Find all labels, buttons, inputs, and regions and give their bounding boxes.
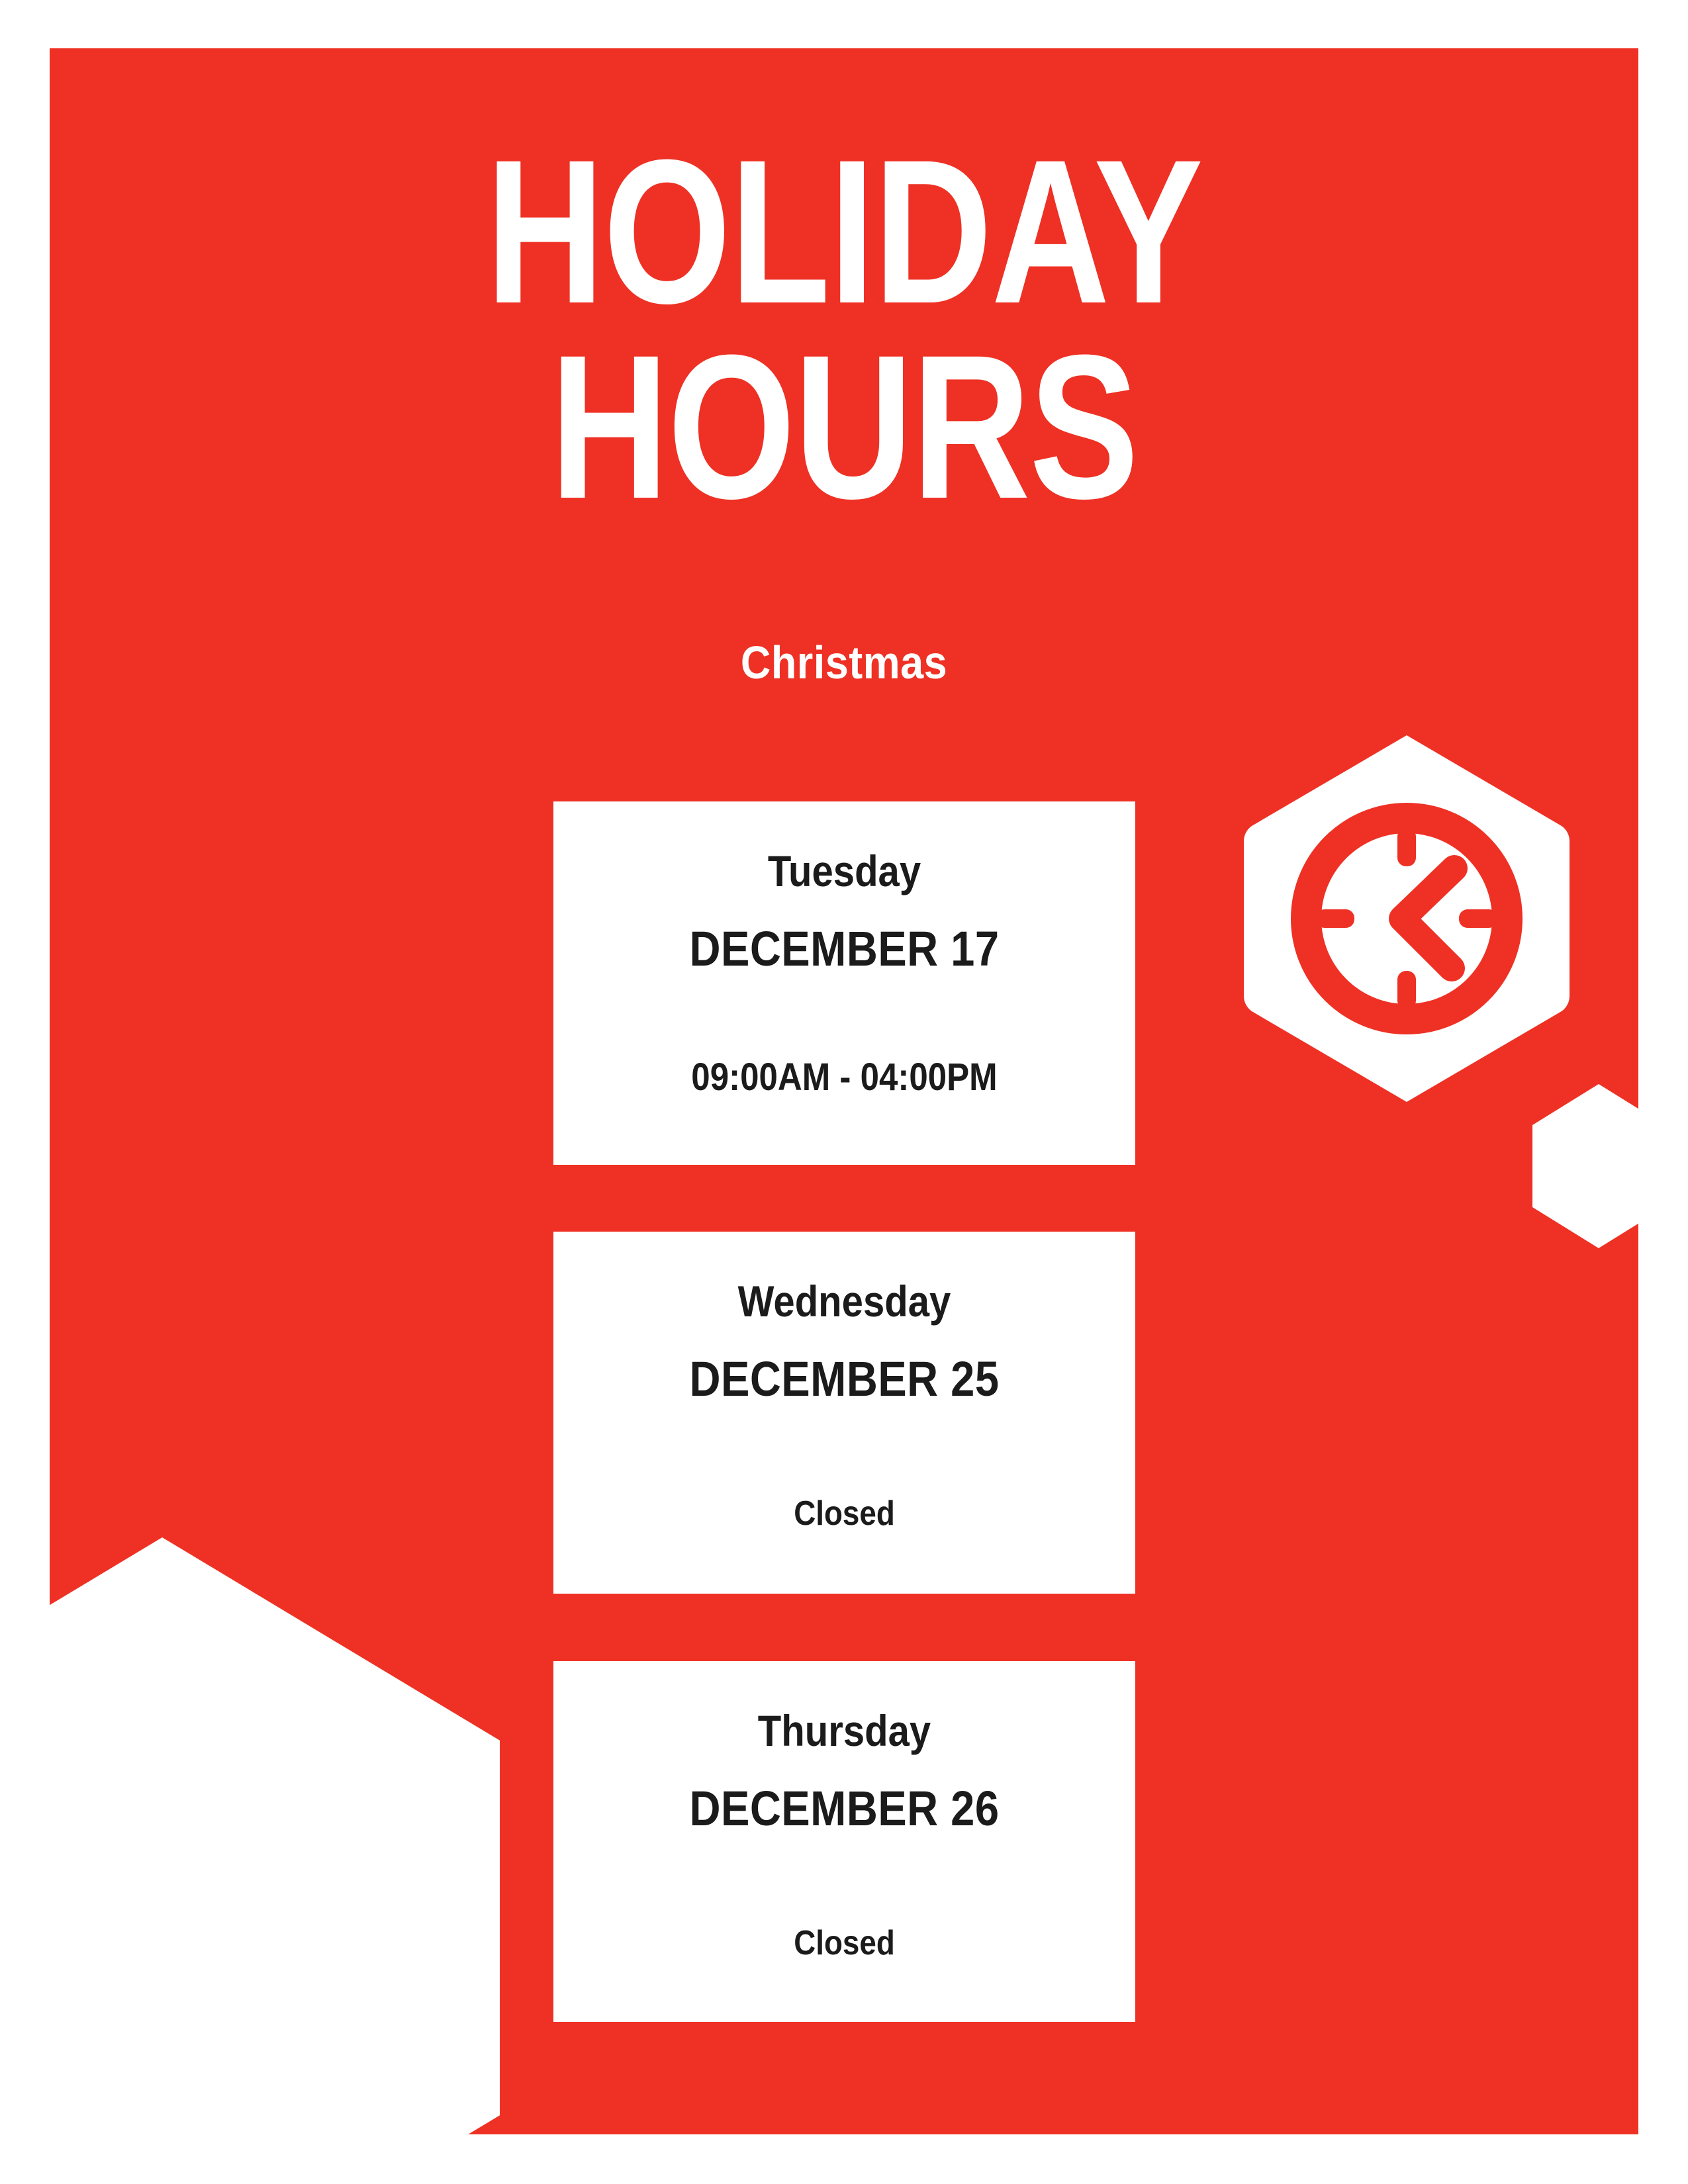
schedule-card: Tuesday DECEMBER 17 09:00AM - 04:00PM [553, 801, 1135, 1165]
schedule-date: DECEMBER 17 [602, 925, 1086, 974]
schedule-card: Wednesday DECEMBER 25 Closed [553, 1232, 1135, 1594]
schedule-hours: Closed [602, 1926, 1086, 1960]
schedule-day: Thursday [602, 1709, 1086, 1752]
title-line-1: HOLIDAY [209, 134, 1479, 330]
schedule-date: DECEMBER 25 [602, 1355, 1086, 1404]
hexagon-icon-bottom-left [50, 1537, 500, 2134]
schedule-day: Tuesday [602, 849, 1086, 893]
red-background-panel: HOLIDAY HOURS Christmas Tuesday DECEMBER… [50, 48, 1638, 2134]
page-subtitle: Christmas [129, 636, 1559, 689]
schedule-hours: 09:00AM - 04:00PM [602, 1058, 1086, 1097]
title-line-2: HOURS [209, 330, 1479, 525]
holiday-hours-poster: HOLIDAY HOURS Christmas Tuesday DECEMBER… [0, 0, 1688, 2184]
schedule-day: Wednesday [602, 1279, 1086, 1323]
clock-icon [1241, 730, 1572, 1107]
schedule-card: Thursday DECEMBER 26 Closed [553, 1661, 1135, 2022]
schedule-date: DECEMBER 26 [602, 1784, 1086, 1833]
schedule-hours: Closed [602, 1496, 1086, 1531]
hexagon-icon-small-right [1532, 1084, 1638, 1248]
page-title: HOLIDAY HOURS [209, 134, 1479, 524]
